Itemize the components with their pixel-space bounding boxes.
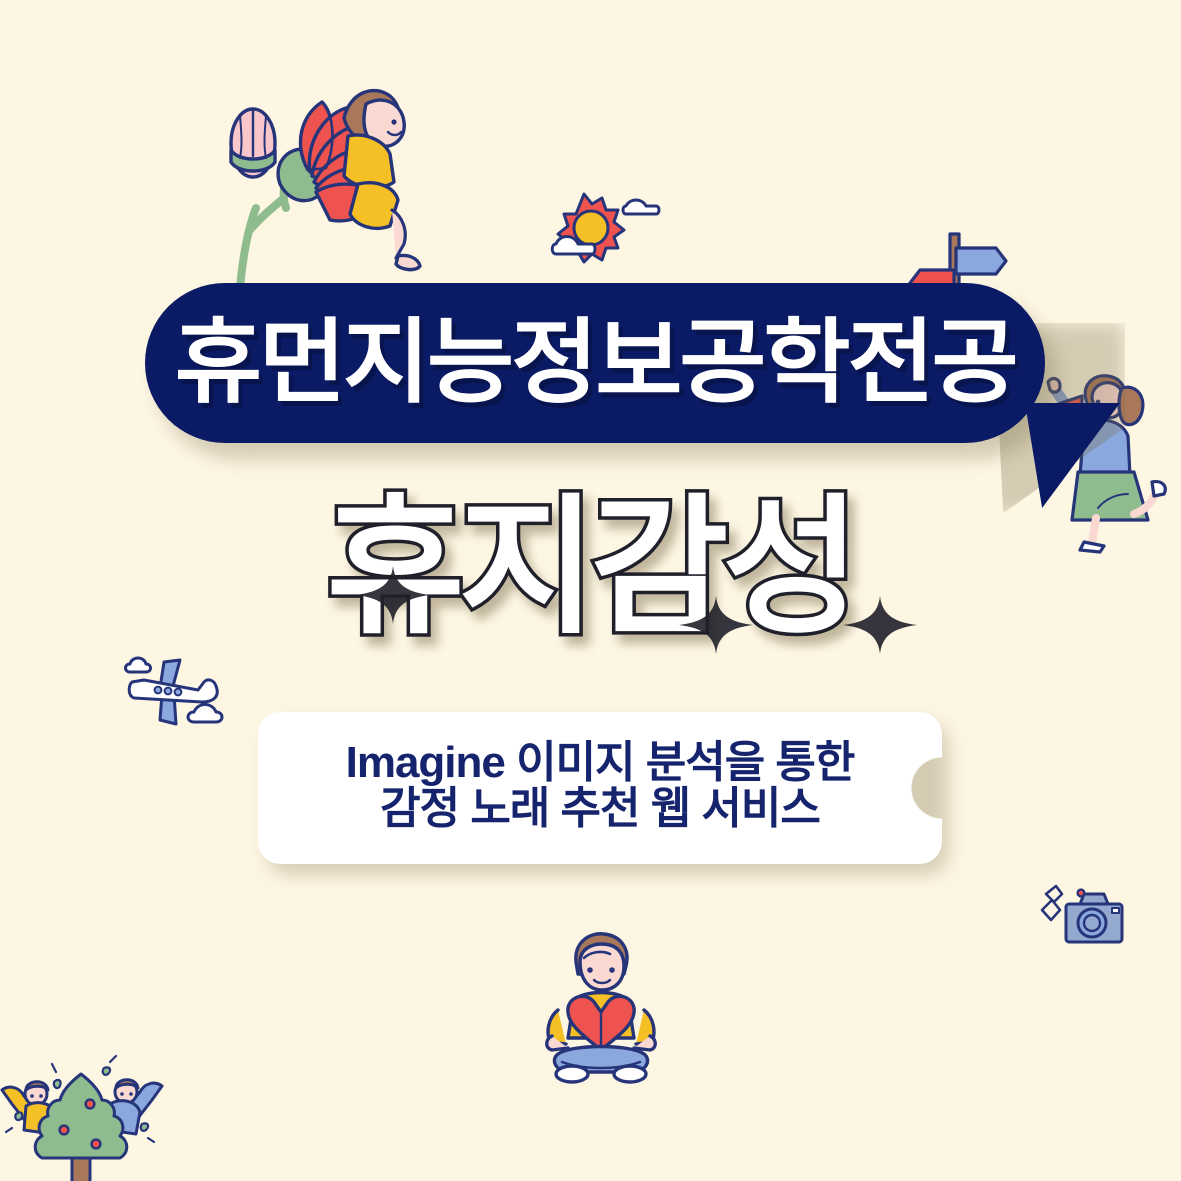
- poster-canvas: 휴먼지능정보공학전공 휴지감성 Imagine 이미지 분석을 통한 감정 노래…: [0, 0, 1181, 1181]
- subtitle-label: Imagine 이미지 분석을 통한 감정 노래 추천 웹 서비스: [324, 740, 877, 836]
- department-banner: 휴먼지능정보공학전공: [145, 283, 1075, 498]
- subtitle-card: Imagine 이미지 분석을 통한 감정 노래 추천 웹 서비스: [258, 712, 942, 864]
- heart-person-illustration: [528, 928, 674, 1084]
- airplane-illustration: [114, 638, 238, 732]
- banner-bubble: 휴먼지능정보공학전공: [145, 283, 1045, 443]
- camera-illustration: [1030, 868, 1142, 952]
- department-banner-label: 휴먼지능정보공학전공: [175, 317, 1016, 409]
- page-title: 휴지감성: [0, 492, 1181, 642]
- tree-people-illustration: [0, 1046, 166, 1181]
- sun-cloud-illustration: [540, 182, 662, 264]
- subtitle-banner: Imagine 이미지 분석을 통한 감정 노래 추천 웹 서비스: [258, 712, 948, 872]
